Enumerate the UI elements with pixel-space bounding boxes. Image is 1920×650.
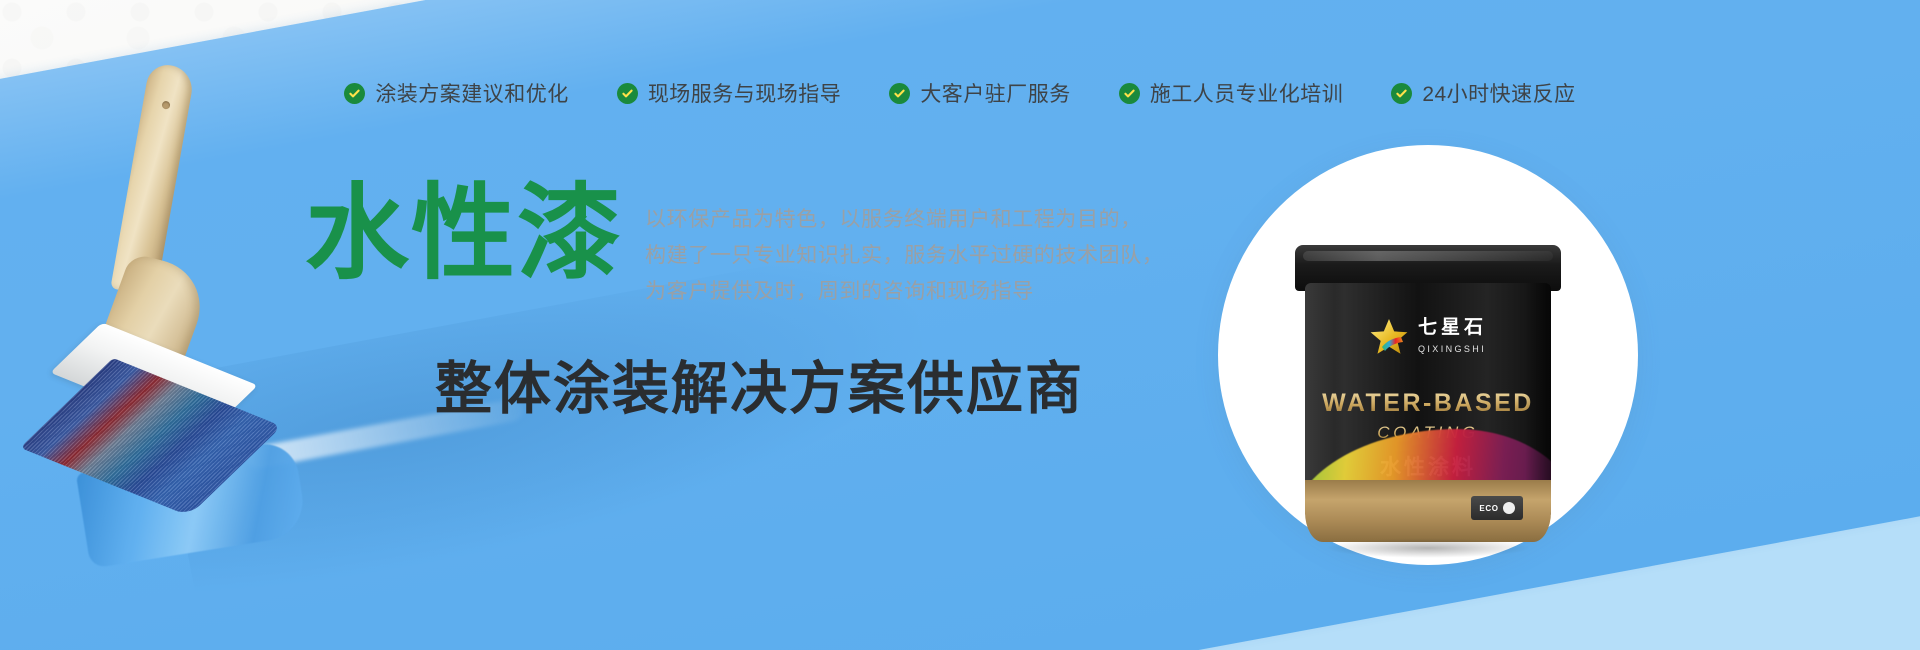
eco-label: ECO [1479, 504, 1498, 513]
feature-item[interactable]: 大客户驻厂服务 [889, 78, 1071, 108]
bucket-base-band: ECO [1305, 480, 1551, 542]
headline-block: 水性漆 以环保产品为特色，以服务终端用户和工程为目的， 构建了一只专业知识扎实，… [305, 180, 1163, 310]
check-circle-icon [344, 83, 365, 104]
brand-name-en: QIXINGSHI [1418, 344, 1486, 354]
feature-item[interactable]: 24小时快速反应 [1391, 78, 1575, 108]
description-line: 以环保产品为特色，以服务终端用户和工程为目的， [645, 202, 1163, 238]
headline-description: 以环保产品为特色，以服务终端用户和工程为目的， 构建了一只专业知识扎实，服务水平… [645, 180, 1163, 310]
product-name-en: WATER-BASED [1305, 389, 1551, 418]
brand-logo: 七星石 QIXINGSHI [1369, 317, 1487, 357]
eco-badge: ECO [1471, 496, 1523, 520]
feature-label: 大客户驻厂服务 [920, 78, 1071, 108]
description-line: 构建了一只专业知识扎实，服务水平过硬的技术团队， [645, 238, 1163, 274]
eco-leaf-icon [1503, 502, 1515, 514]
check-circle-icon [889, 83, 910, 104]
star-logo-icon [1369, 317, 1409, 357]
paintbrush-illustration [52, 60, 282, 480]
feature-list: 涂装方案建议和优化 现场服务与现场指导 大客户驻厂服务 施工人员专业化培训 24 [0, 78, 1920, 108]
page-title: 水性漆 [305, 180, 623, 288]
check-circle-icon [1391, 83, 1412, 104]
bucket-shadow [1325, 538, 1531, 558]
feature-item[interactable]: 施工人员专业化培训 [1119, 78, 1344, 108]
check-circle-icon [617, 83, 638, 104]
product-paint-bucket[interactable]: 七星石 QIXINGSHI WATER-BASED COATING 水性涂料 H… [1273, 245, 1583, 550]
brand-name-cn: 七星石 [1418, 317, 1487, 338]
feature-label: 24小时快速反应 [1422, 78, 1575, 108]
feature-label: 现场服务与现场指导 [648, 78, 842, 108]
check-circle-icon [1119, 83, 1140, 104]
feature-item[interactable]: 涂装方案建议和优化 [344, 78, 569, 108]
feature-item[interactable]: 现场服务与现场指导 [617, 78, 842, 108]
feature-label: 施工人员专业化培训 [1150, 78, 1344, 108]
feature-label: 涂装方案建议和优化 [375, 78, 569, 108]
hero-banner: 涂装方案建议和优化 现场服务与现场指导 大客户驻厂服务 施工人员专业化培训 24 [0, 0, 1920, 650]
description-line: 为客户提供及时，周到的咨询和现场指导 [645, 274, 1163, 310]
subheadline: 整体涂装解决方案供应商 [435, 343, 1084, 425]
